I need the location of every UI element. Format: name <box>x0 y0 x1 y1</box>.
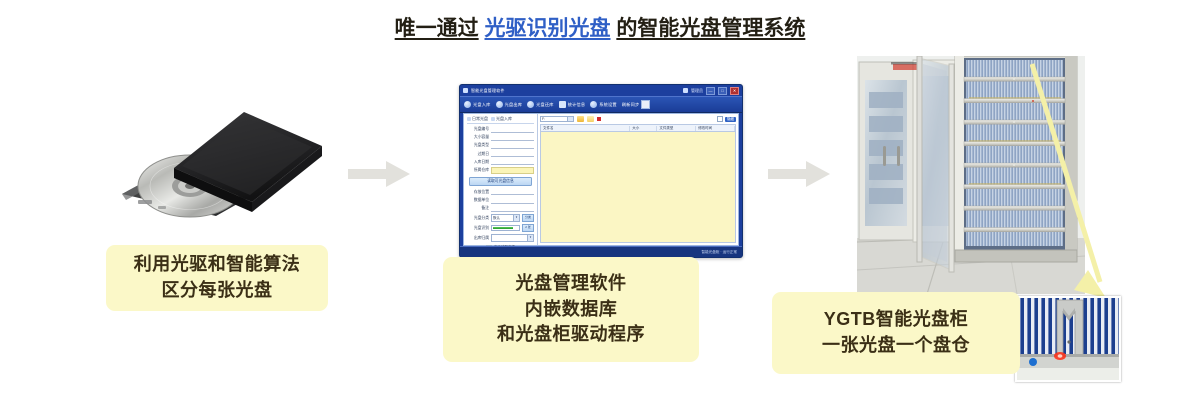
stats-icon <box>559 101 566 108</box>
panel-tabs: 日常光盘 光盘入库 <box>467 116 534 124</box>
open-folder-icon[interactable] <box>577 116 584 122</box>
file-list-toolbar: F: 隐藏 <box>540 116 736 122</box>
field-input-0[interactable] <box>491 127 534 133</box>
field-row: 入库日期 <box>467 159 534 165</box>
list-options[interactable]: 隐藏 <box>717 116 736 122</box>
column-header-filetype: 文件类型 <box>657 126 696 131</box>
field-label-7: 数据单位 <box>467 198 489 203</box>
dept-select[interactable]: ▾ <box>491 234 534 242</box>
field-input-7[interactable] <box>491 198 534 204</box>
tab-daily-disc[interactable]: 日常光盘 <box>467 116 488 122</box>
field-label-2: 光盘类型 <box>467 143 489 148</box>
field-row: 过期日 <box>467 151 534 157</box>
caption-left-line1: 利用光驱和智能算法 <box>134 252 301 278</box>
cabinet-detail-inset <box>1015 296 1121 382</box>
status-dot <box>1029 358 1037 366</box>
field-input-4[interactable] <box>491 159 534 165</box>
form-panel: 日常光盘 光盘入库 光盘编号 大小容量 光盘类型 <box>464 114 538 245</box>
column-header-size: 大小 <box>630 126 657 131</box>
status-text: 智能光盘柜 · 运行正常 <box>701 250 737 255</box>
disc-shelves <box>964 60 1065 246</box>
folder-icon[interactable] <box>587 116 594 122</box>
toolbar-label-0: 光盘入库 <box>473 102 491 108</box>
caption-middle-line2: 内嵌数据库 <box>497 297 645 323</box>
hide-checkbox[interactable] <box>717 116 723 122</box>
column-header-modified: 修改时间 <box>696 126 735 131</box>
toolbar-button-stats[interactable]: 统计信息 <box>559 101 586 108</box>
field-input-6[interactable] <box>491 190 534 196</box>
title-prefix: 唯一通过 <box>395 17 479 40</box>
maximize-button[interactable]: □ <box>718 87 727 95</box>
caption-right: YGTB智能光盘柜 一张光盘一个盘仓 <box>772 292 1020 374</box>
dvd-drive-photo <box>112 98 327 220</box>
field-input-2[interactable] <box>491 143 534 149</box>
toolbar: 光盘入库 光盘出库 光盘还库 统计信息 系统设置 刷新同步 <box>460 96 742 113</box>
caption-middle-line1: 光盘管理软件 <box>497 271 645 297</box>
disc-type-value: 默认 <box>492 216 500 221</box>
user-icon <box>683 88 688 93</box>
field-input-3[interactable] <box>491 151 534 157</box>
title-highlight: 光驱识别光盘 <box>485 17 611 40</box>
dept-row: 出库归属 ▾ <box>467 234 534 242</box>
flow-arrow-drive-to-software <box>348 161 410 187</box>
field-row: 光盘编号 <box>467 127 534 133</box>
user-label: 管理员 <box>691 88 703 94</box>
toolbar-label-2: 光盘还库 <box>536 102 554 108</box>
field-label-5: 所属仓库 <box>467 168 489 173</box>
window-body: 日常光盘 光盘入库 光盘编号 大小容量 光盘类型 <box>463 113 739 246</box>
inbox-icon <box>491 117 495 121</box>
toolbar-label-5: 刷新同步 <box>622 102 640 108</box>
chevron-down-icon: ▾ <box>527 235 533 241</box>
field-label-0: 光盘编号 <box>467 127 489 132</box>
progress-bar <box>491 225 520 231</box>
software-window[interactable]: 智能光盘管理软件 管理员 — □ ✕ 光盘入库 光盘出库 光盘还库 <box>459 84 743 258</box>
app-logo-icon <box>463 88 468 93</box>
disc-type-row: 光盘分类 默认 ▾ 分类 <box>467 214 534 222</box>
cabinet-photo <box>857 56 1085 294</box>
read-disc-info-button[interactable]: 读取可光盘信息 <box>469 177 532 186</box>
file-list-body[interactable] <box>540 132 736 243</box>
flow-arrow-software-to-cabinet <box>768 161 830 187</box>
title-suffix: 的智能光盘管理系统 <box>616 17 805 40</box>
field-input-8[interactable] <box>491 206 534 212</box>
tab-label-0: 日常光盘 <box>472 116 488 122</box>
progress-row: 光盘识别 2 张 <box>467 224 534 232</box>
chevron-down-icon: ▾ <box>513 215 519 221</box>
field-label-8: 备注 <box>467 206 489 211</box>
toolbar-label-4: 系统设置 <box>599 102 617 108</box>
tab-label-1: 光盘入库 <box>496 116 512 122</box>
status-bar: 智能光盘柜 · 运行正常 <box>460 246 742 257</box>
disc-out-icon <box>496 101 503 108</box>
disc-type-label: 光盘分类 <box>467 216 489 221</box>
field-row: 备注 <box>467 206 534 212</box>
caption-middle: 光盘管理软件 内嵌数据库 和光盘柜驱动程序 <box>443 257 699 362</box>
drive-select[interactable]: F: <box>540 116 574 122</box>
disc-type-select[interactable]: 默认 ▾ <box>491 214 520 222</box>
disc-in-icon <box>464 101 471 108</box>
field-label-1: 大小容量 <box>467 135 489 140</box>
field-input-1[interactable] <box>491 135 534 141</box>
progress-value: 2 张 <box>522 224 534 232</box>
dept-label: 出库归属 <box>467 236 489 241</box>
caption-middle-line3: 和光盘柜驱动程序 <box>497 322 645 348</box>
disc-icon <box>467 117 471 121</box>
field-row: 存放位置 <box>467 190 534 196</box>
slide-canvas: 唯一通过 光驱识别光盘 的智能光盘管理系统 <box>0 0 1200 400</box>
progress-label: 光盘识别 <box>467 226 489 231</box>
close-button[interactable]: ✕ <box>730 87 739 95</box>
toolbar-button-disc-return[interactable]: 光盘还库 <box>527 101 554 108</box>
tab-disc-in[interactable]: 光盘入库 <box>491 116 512 122</box>
toolbar-label-1: 光盘出库 <box>505 102 523 108</box>
caption-right-line1: YGTB智能光盘柜 <box>822 307 970 333</box>
window-titlebar: 智能光盘管理软件 管理员 — □ ✕ <box>460 85 742 96</box>
field-row: 所属仓库 <box>467 167 534 174</box>
caption-left-line2: 区分每张光盘 <box>134 278 301 304</box>
gear-icon <box>590 101 597 108</box>
file-list-panel: F: 隐藏 文件名 大小 文件类型 修改时间 <box>538 114 738 245</box>
toolbar-label-3: 统计信息 <box>568 102 586 108</box>
column-header-filename: 文件名 <box>541 126 630 131</box>
chevron-down-icon <box>567 117 573 121</box>
list-option-label: 隐藏 <box>725 117 736 122</box>
field-row: 大小容量 <box>467 135 534 141</box>
file-list-header: 文件名 大小 文件类型 修改时间 <box>540 124 736 132</box>
toolbar-button-refresh[interactable]: 刷新同步 <box>622 100 651 109</box>
stop-icon[interactable] <box>597 117 601 121</box>
drive-select-value: F: <box>542 117 545 121</box>
toolbar-button-disc-in[interactable]: 光盘入库 <box>464 101 491 108</box>
refresh-icon <box>641 100 650 109</box>
field-input-5[interactable] <box>491 167 534 174</box>
disc-type-button[interactable]: 分类 <box>522 214 534 222</box>
disc-return-icon <box>527 101 534 108</box>
field-row: 光盘类型 <box>467 143 534 149</box>
field-label-4: 入库日期 <box>467 160 489 165</box>
minimize-button[interactable]: — <box>706 87 715 95</box>
toolbar-button-settings[interactable]: 系统设置 <box>590 101 617 108</box>
field-label-3: 过期日 <box>467 152 489 157</box>
page-title: 唯一通过 光驱识别光盘 的智能光盘管理系统 <box>0 12 1200 42</box>
window-title: 智能光盘管理软件 <box>471 88 505 94</box>
field-label-6: 存放位置 <box>467 190 489 195</box>
toolbar-button-disc-out[interactable]: 光盘出库 <box>496 101 523 108</box>
caption-right-line2: 一张光盘一个盘仓 <box>822 333 970 359</box>
caption-left: 利用光驱和智能算法 区分每张光盘 <box>106 245 328 311</box>
field-row: 数据单位 <box>467 198 534 204</box>
